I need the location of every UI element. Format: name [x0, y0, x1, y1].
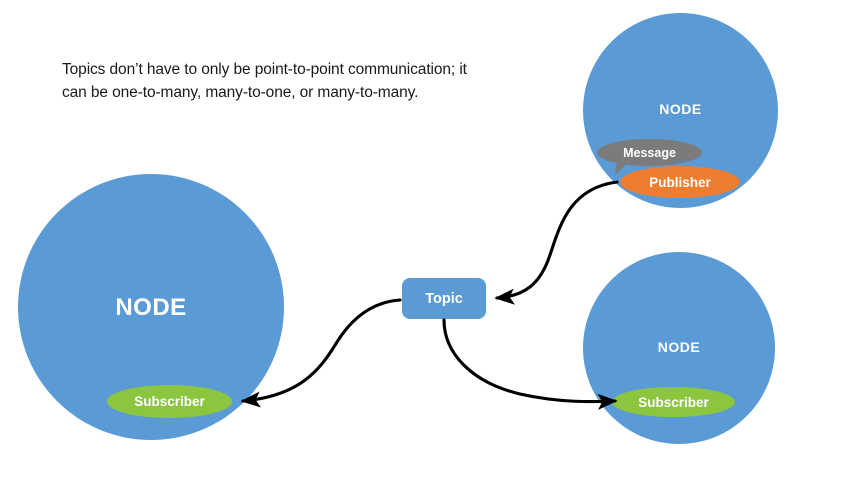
subscriber-oval-left: Subscriber	[107, 385, 232, 418]
topic-box: Topic	[402, 278, 486, 319]
subscriber-oval-bottom-right: Subscriber	[612, 387, 735, 417]
node-bottom-right-label: NODE	[583, 339, 775, 355]
caption-text: Topics don’t have to only be point-to-po…	[62, 58, 482, 105]
diagram-canvas: Topics don’t have to only be point-to-po…	[0, 0, 854, 480]
node-left-label: NODE	[18, 294, 284, 322]
message-oval: Message	[597, 139, 702, 166]
arrow-publisher-to-topic	[497, 182, 617, 298]
node-top-right-label: NODE	[583, 101, 778, 117]
publisher-oval: Publisher	[620, 166, 740, 198]
